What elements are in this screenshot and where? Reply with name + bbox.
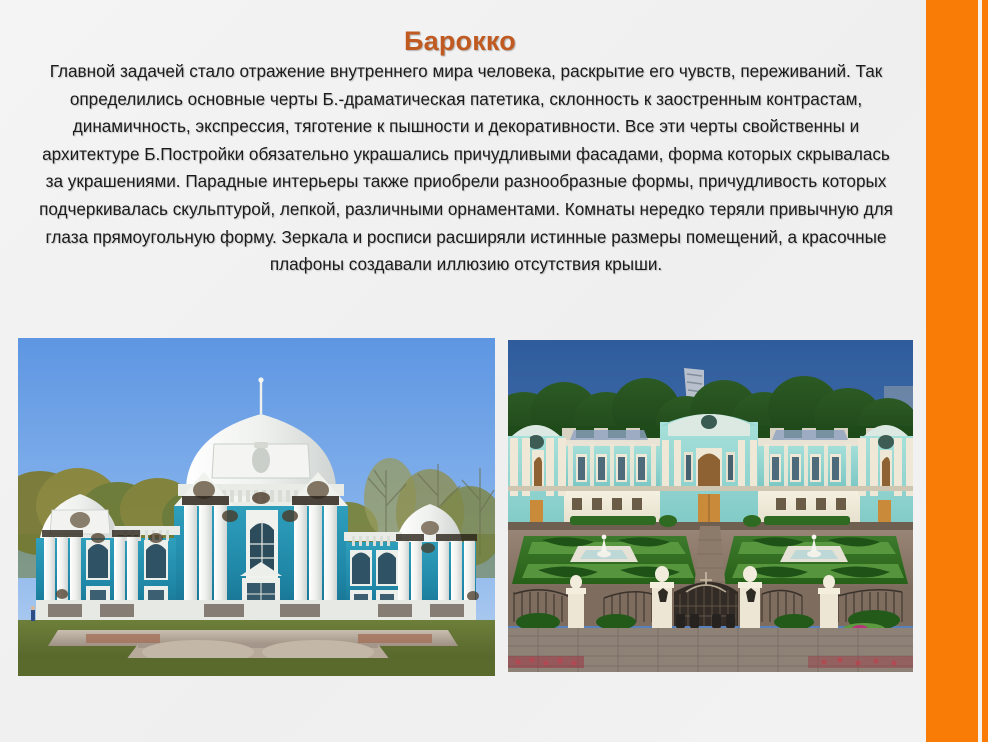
slide-body-text: Главной задачей стало отражение внутренн… (35, 58, 898, 279)
page-title: Барокко (0, 26, 920, 57)
hermitage-pavilion-photo (18, 338, 495, 676)
body-paragraph: Главной задачей стало отражение внутренн… (35, 58, 898, 279)
accent-bar-secondary (982, 0, 988, 742)
mariinsky-palace-photo (508, 340, 913, 672)
presentation-slide: Барокко Главной задачей стало отражение … (0, 0, 988, 742)
accent-bar-primary (926, 0, 978, 742)
hermitage-pavilion-illustration (18, 338, 495, 676)
mariinsky-palace-illustration (508, 340, 913, 672)
